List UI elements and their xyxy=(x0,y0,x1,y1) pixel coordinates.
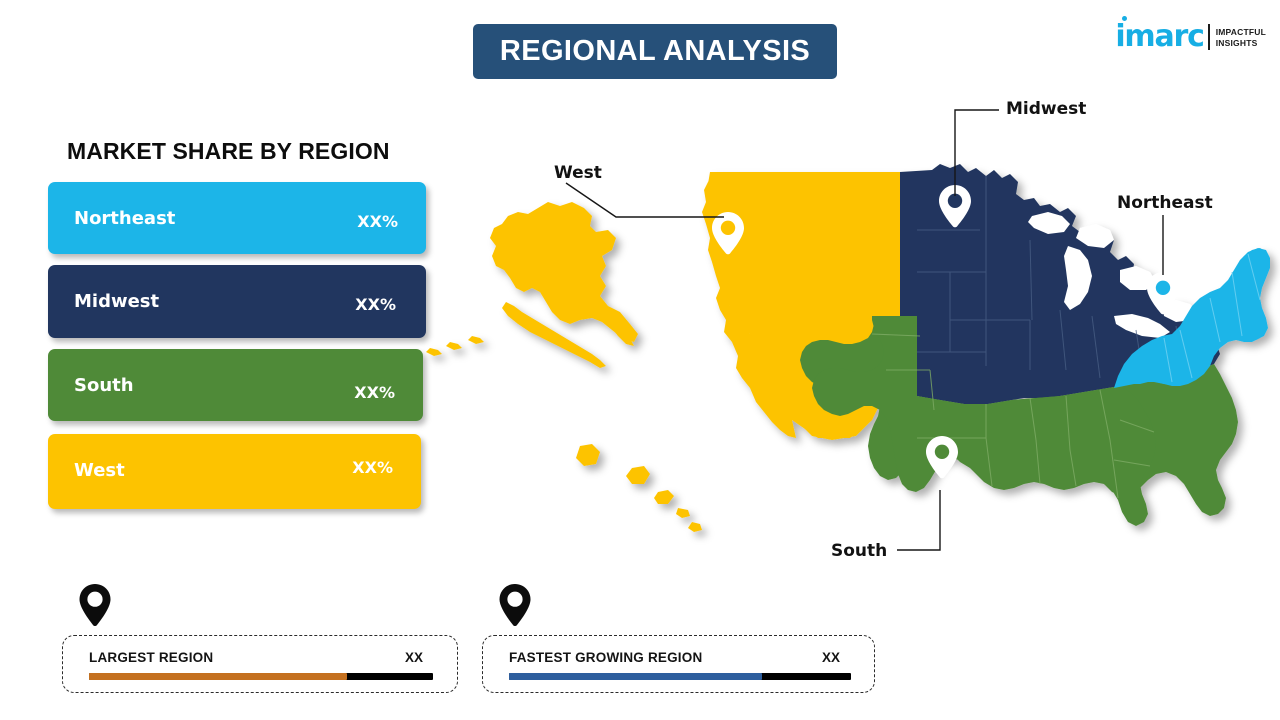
us-regional-map[interactable] xyxy=(420,120,1280,580)
logo-tagline-line1: IMPACTFUL xyxy=(1216,27,1266,38)
market-share-heading: MARKET SHARE BY REGION xyxy=(67,138,390,165)
share-bar-label-west: West xyxy=(74,460,125,481)
callout-label-west: West xyxy=(554,163,602,183)
slide-canvas: REGIONAL ANALYSIS imarc IMPACTFUL INSIGH… xyxy=(0,0,1280,720)
share-bar-west[interactable]: West XX% xyxy=(48,434,421,509)
progress-track-fastest-growing-region xyxy=(509,673,851,680)
progress-fill-largest-region xyxy=(89,673,347,680)
stat-value-largest-region: XX xyxy=(405,650,423,665)
imarc-logo: imarc IMPACTFUL INSIGHTS xyxy=(1115,14,1266,52)
share-bar-midwest[interactable]: Midwest XX% xyxy=(48,265,426,338)
page-title: REGIONAL ANALYSIS xyxy=(500,35,810,68)
share-bar-value-south: XX% xyxy=(354,383,395,402)
map-region-alaska-islands xyxy=(426,336,484,356)
map-pin-icon-fastest-growing-region xyxy=(498,583,532,627)
stat-value-fastest-growing-region: XX xyxy=(822,650,840,665)
stat-card-largest-region[interactable]: LARGEST REGION XX xyxy=(62,635,458,693)
share-bar-value-northeast: XX% xyxy=(357,212,398,231)
stat-label-fastest-growing-region: FASTEST GROWING REGION xyxy=(509,650,702,665)
share-bar-label-midwest: Midwest xyxy=(74,291,159,312)
share-bar-south[interactable]: South XX% xyxy=(48,349,423,421)
logo-tagline-line2: INSIGHTS xyxy=(1216,38,1266,49)
share-bar-label-south: South xyxy=(74,375,134,396)
callout-label-south: South xyxy=(831,541,887,561)
share-bar-northeast[interactable]: Northeast XX% xyxy=(48,182,426,254)
callout-label-midwest: Midwest xyxy=(1006,99,1086,119)
logo-wordmark: imarc xyxy=(1115,19,1203,54)
share-bar-value-west: XX% xyxy=(352,458,393,477)
progress-fill-fastest-growing-region xyxy=(509,673,762,680)
map-region-hawaii xyxy=(576,444,702,532)
share-bar-value-midwest: XX% xyxy=(355,295,396,314)
stat-card-fastest-growing-region[interactable]: FASTEST GROWING REGION XX xyxy=(482,635,875,693)
logo-tagline: IMPACTFUL INSIGHTS xyxy=(1216,24,1266,52)
progress-track-largest-region xyxy=(89,673,433,680)
stat-label-largest-region: LARGEST REGION xyxy=(89,650,213,665)
page-title-banner: REGIONAL ANALYSIS xyxy=(473,24,837,79)
share-bar-label-northeast: Northeast xyxy=(74,208,175,229)
map-pin-icon-largest-region xyxy=(78,583,112,627)
logo-divider xyxy=(1208,24,1210,50)
callout-label-northeast: Northeast xyxy=(1117,193,1213,213)
